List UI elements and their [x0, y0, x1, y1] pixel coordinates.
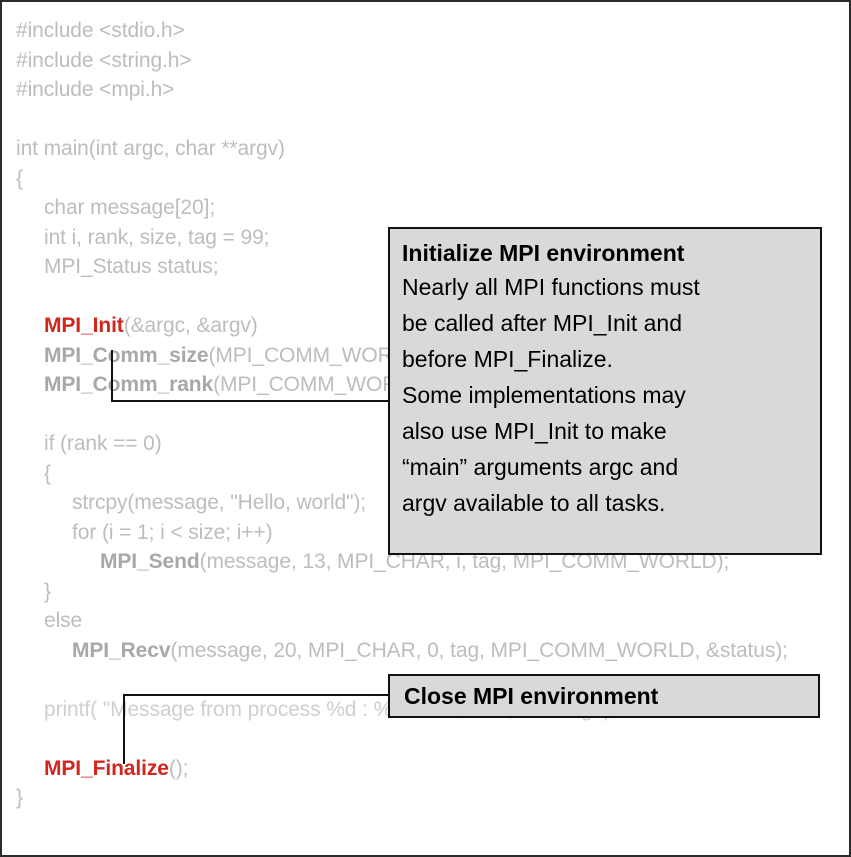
code-line: #include <mpi.h>: [16, 75, 851, 105]
callout-initialize-body-line: argv available to all tasks.: [402, 485, 810, 521]
code-line-mpi-recv: MPI_Recv(message, 20, MPI_CHAR, 0, tag, …: [16, 636, 851, 666]
callout-initialize-mpi: Initialize MPI environment Nearly all MP…: [388, 227, 822, 555]
callout-initialize-body: Nearly all MPI functions must be called …: [402, 269, 810, 521]
code-line: else: [16, 606, 851, 636]
callout-initialize-body-line: “main” arguments argc and: [402, 449, 810, 485]
mpi-finalize-args: ();: [169, 757, 189, 780]
mpi-comm-rank-call: MPI_Comm_rank: [44, 373, 213, 396]
mpi-recv-args: (message, 20, MPI_CHAR, 0, tag, MPI_COMM…: [170, 639, 787, 662]
code-line-blank: [16, 724, 851, 754]
code-line: #include <stdio.h>: [16, 16, 851, 46]
code-line: int main(int argc, char **argv): [16, 134, 851, 164]
callout-close-title: Close MPI environment: [404, 680, 808, 712]
code-line: #include <string.h>: [16, 46, 851, 76]
code-line: }: [16, 783, 851, 813]
code-line-blank: [16, 105, 851, 135]
code-line: }: [16, 577, 851, 607]
code-line: {: [16, 164, 851, 194]
mpi-comm-size-call: MPI_Comm_size: [44, 344, 208, 367]
mpi-finalize-call: MPI_Finalize: [44, 757, 169, 780]
callout-initialize-body-line: before MPI_Finalize.: [402, 341, 810, 377]
mpi-recv-call: MPI_Recv: [72, 639, 170, 662]
mpi-init-args: (&argc, &argv): [124, 314, 258, 337]
code-line: char message[20];: [16, 193, 851, 223]
slide-canvas: #include <stdio.h> #include <string.h> #…: [0, 0, 851, 857]
leader-line-finalize-vertical: [123, 694, 125, 764]
leader-line-init-horizontal: [111, 400, 390, 402]
callout-initialize-body-line: also use MPI_Init to make: [402, 413, 810, 449]
callout-initialize-body-line: Nearly all MPI functions must: [402, 269, 810, 305]
callout-initialize-body-line: Some implementations may: [402, 377, 810, 413]
code-line-mpi-finalize: MPI_Finalize();: [16, 754, 851, 784]
callout-initialize-body-line: be called after MPI_Init and: [402, 305, 810, 341]
leader-line-finalize-horizontal: [123, 694, 390, 696]
leader-line-init-vertical: [111, 350, 113, 402]
callout-initialize-title: Initialize MPI environment: [402, 237, 810, 269]
mpi-send-call: MPI_Send: [100, 550, 200, 573]
callout-close-mpi: Close MPI environment: [388, 674, 820, 718]
mpi-init-call: MPI_Init: [44, 314, 124, 337]
